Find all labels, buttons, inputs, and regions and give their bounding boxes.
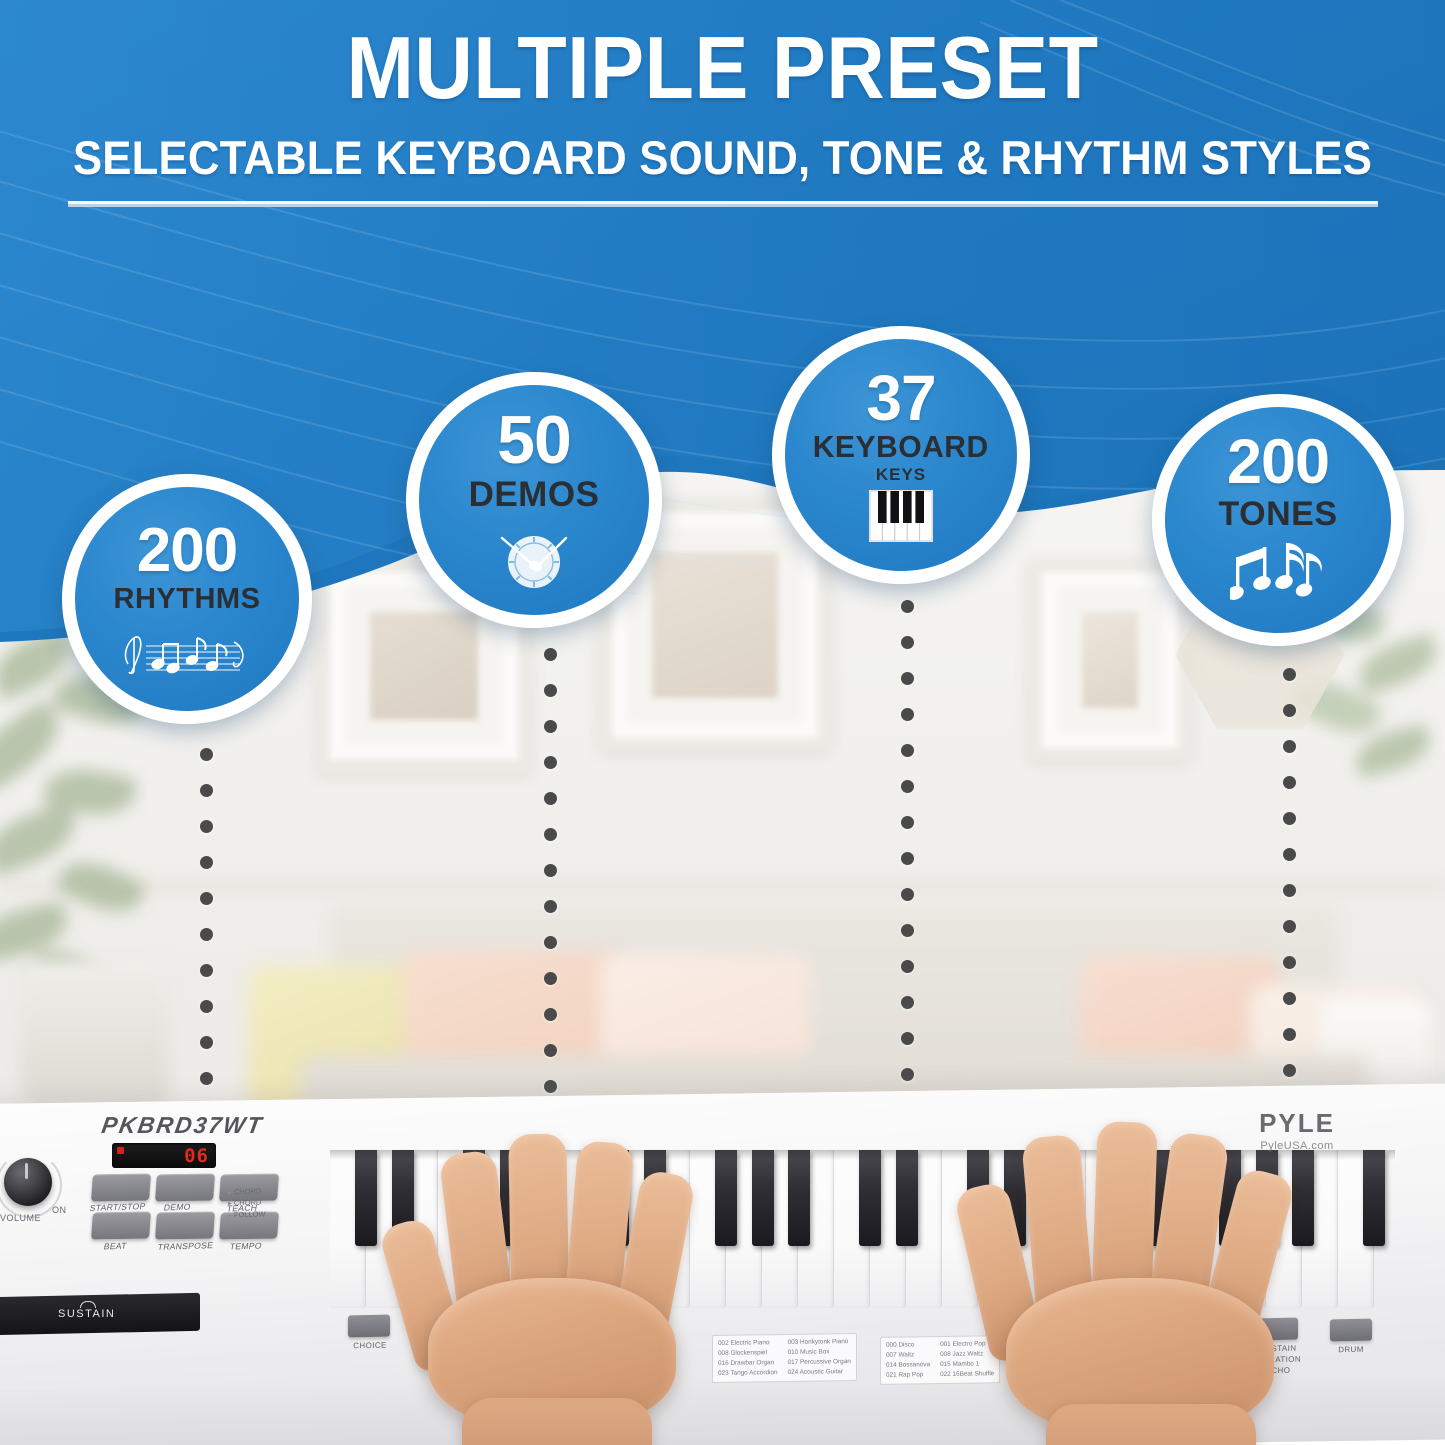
button-drum[interactable] — [1330, 1319, 1372, 1342]
page-title: MULTIPLE PRESET — [58, 24, 1387, 112]
tone-preset-item: 003 Honkytonk Piano — [788, 1337, 851, 1348]
tone-preset-item: 017 Percussive Organ — [788, 1357, 851, 1368]
led-display: 06 — [112, 1143, 216, 1168]
sustain-label: SUSTAIN — [58, 1308, 115, 1320]
tone-preset-item: 002 Electric Piano — [718, 1338, 778, 1349]
connector-dots-rhythms — [200, 748, 214, 1108]
tone-preset-panel: 002 Electric Piano 008 Glockenspiel 016 … — [712, 1333, 857, 1383]
mode-follow: FOLLOW — [228, 1208, 266, 1221]
volume-knob[interactable] — [4, 1158, 52, 1206]
badge-keys-sublabel: KEYS — [876, 466, 926, 483]
music-staff-notes-icon — [122, 620, 252, 676]
music-notes-icon — [1230, 539, 1326, 607]
page-subtitle: SELECTABLE KEYBOARD SOUND, TONE & RHYTHM… — [51, 130, 1395, 185]
mode-chord-2: CHORD — [228, 1197, 266, 1210]
badge-keys-number: 37 — [866, 368, 935, 429]
rhythm-preset-item: 007 Waltz — [886, 1350, 930, 1361]
label-transpose: TRANSPOSE — [157, 1240, 214, 1252]
led-indicator-dot — [117, 1147, 124, 1154]
badge-tones[interactable]: 200 TONES — [1152, 394, 1404, 646]
badge-demos-number: 50 — [497, 408, 571, 473]
right-hand — [960, 1122, 1320, 1445]
connector-dots-keys — [901, 600, 915, 1104]
button-start-stop[interactable] — [91, 1173, 151, 1201]
badge-demos[interactable]: 50 DEMOS — [406, 372, 662, 628]
tone-preset-column-right: 003 Honkytonk Piano 010 Music Box 017 Pe… — [788, 1337, 851, 1378]
rhythm-preset-item: 021 Rap Pop — [886, 1370, 930, 1381]
headline-block: MULTIPLE PRESET SELECTABLE KEYBOARD SOUN… — [0, 24, 1445, 207]
divider — [68, 201, 1378, 207]
badge-tones-number: 200 — [1227, 433, 1329, 493]
knob-on-label: ON — [52, 1205, 67, 1215]
badge-rhythms[interactable]: 200 RHYTHMS — [62, 474, 312, 724]
label-demo: DEMO — [163, 1202, 192, 1213]
plant-pot — [20, 960, 170, 1110]
badge-tones-label: TONES — [1218, 497, 1337, 531]
product-model-label: PKBRD37WT — [100, 1112, 265, 1139]
badge-keys[interactable]: 37 KEYBOARD KEYS — [772, 326, 1030, 584]
snare-drum-icon — [496, 522, 572, 592]
connector-dots-demos — [544, 648, 558, 1116]
tone-preset-item: 016 Drawbar Organ — [718, 1358, 778, 1369]
button-demo[interactable] — [155, 1173, 215, 1201]
rhythm-preset-item: 000 Disco — [886, 1340, 930, 1351]
label-tempo: TEMPO — [229, 1240, 263, 1251]
volume-label: VOLUME — [0, 1213, 41, 1223]
button-transpose[interactable] — [155, 1211, 215, 1239]
badge-keys-label: KEYBOARD — [813, 431, 989, 462]
badge-rhythms-number: 200 — [137, 522, 237, 581]
badge-demos-label: DEMOS — [469, 477, 600, 512]
button-choice-minus[interactable] — [348, 1315, 390, 1338]
led-value: 06 — [184, 1145, 209, 1167]
rhythm-preset-item: 014 Bossanova — [886, 1360, 930, 1371]
connector-dots-tones — [1283, 668, 1297, 1100]
tone-preset-column-left: 002 Electric Piano 008 Glockenspiel 016 … — [718, 1338, 778, 1379]
tone-preset-item: 023 Tango Accordion — [718, 1368, 778, 1379]
mode-indicator-labels: CHORD CHORD FOLLOW — [228, 1185, 266, 1220]
piano-keys-icon — [869, 490, 933, 542]
label-beat: BEAT — [103, 1241, 128, 1252]
label-choice-minus: CHOICE — [340, 1340, 400, 1352]
button-beat[interactable] — [91, 1211, 151, 1239]
badge-rhythms-label: RHYTHMS — [114, 585, 261, 614]
product-feature-graphic: MULTIPLE PRESET SELECTABLE KEYBOARD SOUN… — [0, 0, 1445, 1445]
label-drum: DRUM — [1318, 1344, 1384, 1356]
tone-preset-item: 024 Acoustic Guitar — [788, 1367, 851, 1378]
left-hand — [392, 1128, 722, 1445]
rhythm-preset-column-left: 000 Disco 007 Waltz 014 Bossanova 021 Ra… — [886, 1340, 930, 1380]
